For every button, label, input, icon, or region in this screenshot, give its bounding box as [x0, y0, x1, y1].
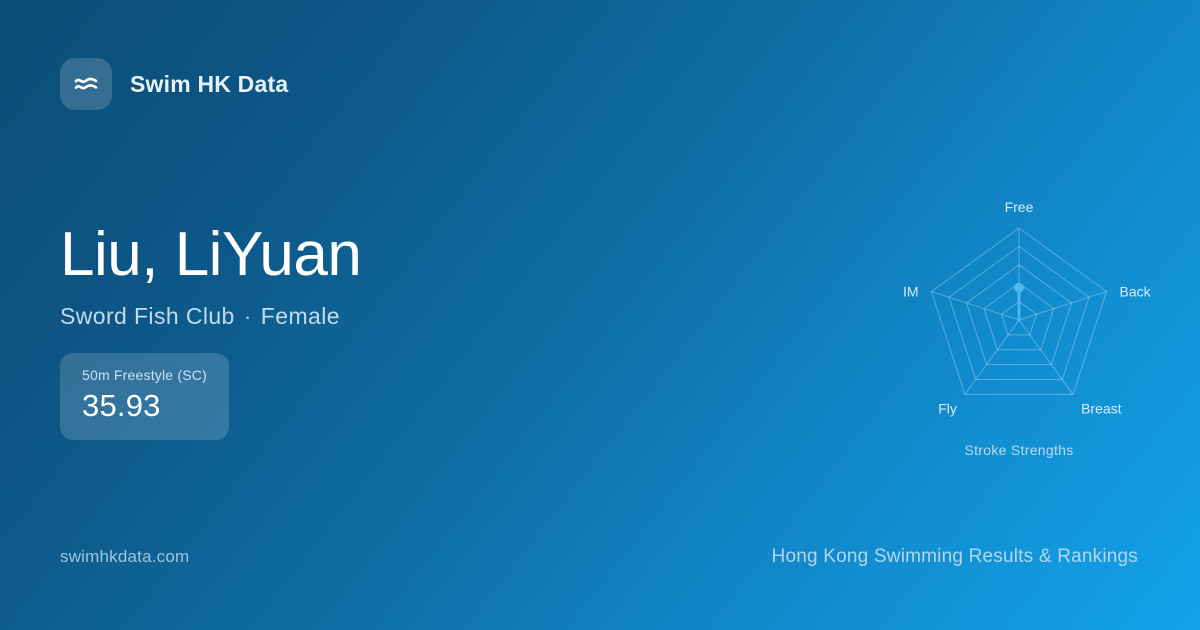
- stat-value: 35.93: [82, 388, 207, 424]
- footer-site[interactable]: swimhkdata.com: [60, 547, 189, 567]
- footer-tagline: Hong Kong Swimming Results & Rankings: [772, 546, 1138, 568]
- share-card: Swim HK Data Liu, LiYuan Sword Fish Club…: [0, 0, 1200, 630]
- stat-card[interactable]: 50m Freestyle (SC) 35.93: [60, 353, 229, 440]
- wave-approx-icon: [60, 58, 112, 110]
- stroke-strengths-radar-chart: FreeBackBreastFlyIM: [869, 170, 1169, 470]
- brand-header[interactable]: Swim HK Data: [60, 58, 288, 110]
- athlete-club: Sword Fish Club: [60, 303, 235, 329]
- athlete-gender: Female: [261, 303, 340, 329]
- athlete-meta: Sword Fish Club·Female: [60, 303, 700, 330]
- radar-axis-label-free: Free: [1005, 199, 1034, 215]
- brand-name: Swim HK Data: [130, 71, 288, 98]
- radar-axis-label-back: Back: [1120, 284, 1152, 300]
- athlete-name: Liu, LiYuan: [60, 222, 700, 287]
- radar-axis-label-breast: Breast: [1081, 400, 1122, 416]
- radar-axis-label-fly: Fly: [938, 400, 957, 416]
- radar-axis-label-im: IM: [903, 284, 919, 300]
- athlete-block: Liu, LiYuan Sword Fish Club·Female: [60, 222, 700, 330]
- meta-separator: ·: [235, 303, 261, 330]
- radar-chart-caption: Stroke Strengths: [869, 442, 1169, 458]
- stat-label: 50m Freestyle (SC): [82, 367, 207, 383]
